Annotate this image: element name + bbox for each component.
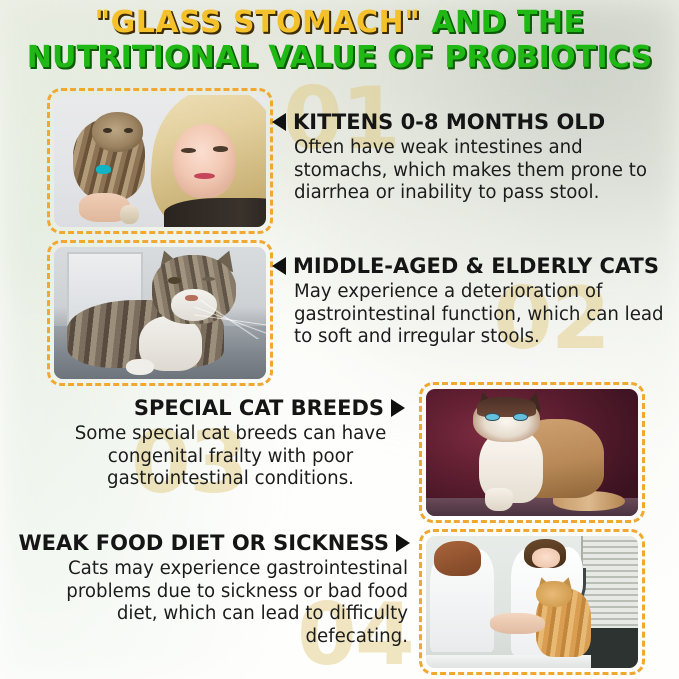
block-2-heading: MIDDLE-AGED & ELDERLY CATS [293,254,659,278]
photo-kitten-with-woman [47,88,273,234]
block-4-body: Cats may experience gastrointestinal pro… [44,558,410,648]
content-block-elderly-cats: MIDDLE-AGED & ELDERLY CATS May experienc… [272,254,672,349]
title-line-2: NUTRITIONAL VALUE OF PROBIOTICS [0,40,679,75]
block-1-body: Often have weak intestines and stomachs,… [272,137,672,205]
poster-title: "GLASS STOMACH" AND THE NUTRITIONAL VALU… [0,5,679,75]
content-block-special-breeds: SPECIAL CAT BREEDS Some special cat bree… [60,396,405,491]
photo-vet-examining-cat [419,529,645,675]
title-line-1: "GLASS STOMACH" AND THE [0,5,679,40]
block-2-heading-row: MIDDLE-AGED & ELDERLY CATS [272,254,672,278]
content-block-weak-diet: WEAK FOOD DIET OR SICKNESS Cats may expe… [44,531,410,648]
block-4-heading: WEAK FOOD DIET OR SICKNESS [18,531,389,555]
block-3-heading: SPECIAL CAT BREEDS [134,396,384,420]
block-4-heading-row: WEAK FOOD DIET OR SICKNESS [44,531,410,555]
triangle-left-icon [272,257,286,275]
block-1-heading: KITTENS 0-8 MONTHS OLD [293,110,605,134]
triangle-right-icon [391,399,405,417]
block-3-heading-row: SPECIAL CAT BREEDS [60,396,405,420]
content-block-kittens: KITTENS 0-8 MONTHS OLD Often have weak i… [272,110,672,205]
triangle-left-icon [272,113,286,131]
block-3-body: Some special cat breeds can have congeni… [60,423,405,491]
title-highlight: "GLASS STOMACH" [95,5,421,40]
block-1-heading-row: KITTENS 0-8 MONTHS OLD [272,110,672,134]
photo-elderly-tabby-cat [47,240,273,386]
infographic-poster: "GLASS STOMACH" AND THE NUTRITIONAL VALU… [0,0,679,679]
block-2-body: May experience a deterioration of gastro… [272,281,672,349]
photo-ragdoll-cat [419,382,645,523]
triangle-right-icon [396,534,410,552]
title-line-1-rest: AND THE [420,5,584,40]
